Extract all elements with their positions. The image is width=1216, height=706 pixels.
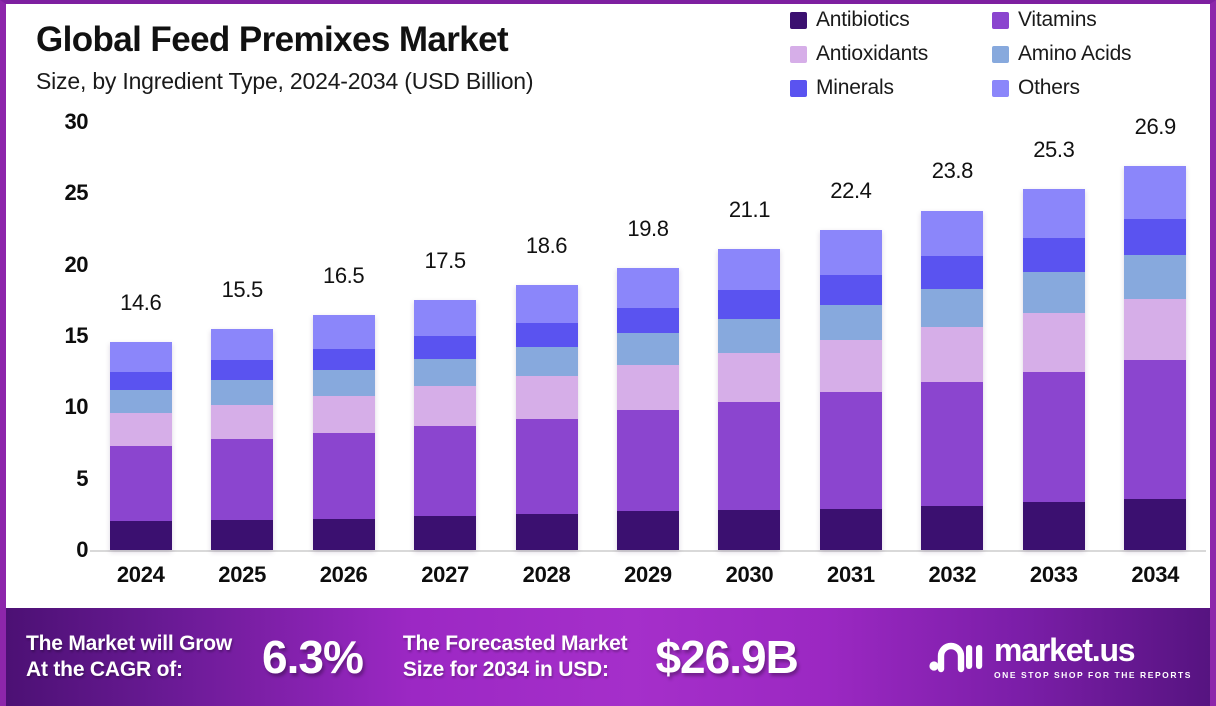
bar-stack[interactable]	[1124, 166, 1186, 550]
bar-segment-others[interactable]	[617, 268, 679, 308]
bar-total-label: 14.6	[90, 290, 191, 316]
bar-segment-antibiotics[interactable]	[718, 510, 780, 550]
brand-logo[interactable]: market.us ONE STOP SHOP FOR THE REPORTS	[928, 634, 1192, 680]
bar-segment-antioxidants[interactable]	[516, 376, 578, 419]
bar-segment-antibiotics[interactable]	[211, 520, 273, 550]
bar-stack[interactable]	[110, 342, 172, 550]
bar-stack[interactable]	[211, 329, 273, 550]
x-axis-tick-label: 2024	[90, 562, 191, 588]
bar-column-2029[interactable]: 19.8	[597, 122, 698, 550]
x-axis-tick-label: 2029	[597, 562, 698, 588]
bar-segment-vitamins[interactable]	[820, 392, 882, 509]
bar-segment-antibiotics[interactable]	[617, 511, 679, 550]
bar-column-2024[interactable]: 14.6	[90, 122, 191, 550]
legend-swatch-icon	[992, 12, 1009, 29]
market-us-logo-icon	[928, 637, 984, 678]
legend-item-antibiotics[interactable]: Antibiotics	[790, 8, 988, 32]
x-axis-tick-label: 2028	[496, 562, 597, 588]
bar-segment-others[interactable]	[516, 285, 578, 324]
bar-segment-amino-acids[interactable]	[820, 305, 882, 341]
legend-item-label: Antioxidants	[816, 42, 928, 66]
bar-total-label: 22.4	[800, 178, 901, 204]
bar-segment-antibiotics[interactable]	[313, 519, 375, 550]
legend-item-others[interactable]: Others	[992, 76, 1190, 100]
x-axis-tick-label: 2027	[394, 562, 495, 588]
infographic-root: Global Feed Premixes Market Size, by Ing…	[0, 0, 1216, 706]
x-axis-baseline	[90, 550, 1206, 552]
bar-total-label: 15.5	[191, 277, 292, 303]
y-axis-tick-label: 0	[76, 537, 88, 563]
bar-segment-others[interactable]	[718, 249, 780, 290]
bar-segment-amino-acids[interactable]	[921, 289, 983, 328]
legend-item-label: Vitamins	[1018, 8, 1097, 32]
bar-segment-antioxidants[interactable]	[313, 396, 375, 433]
bar-total-label: 17.5	[394, 248, 495, 274]
bar-column-2025[interactable]: 15.5	[191, 122, 292, 550]
bar-segment-vitamins[interactable]	[1124, 360, 1186, 498]
bar-segment-antibiotics[interactable]	[110, 521, 172, 550]
legend-swatch-icon	[790, 12, 807, 29]
bar-segment-vitamins[interactable]	[110, 446, 172, 522]
bar-segment-antioxidants[interactable]	[211, 405, 273, 439]
legend-item-label: Others	[1018, 76, 1080, 100]
forecast-caption: The Forecasted Market Size for 2034 in U…	[403, 631, 628, 682]
bar-segment-vitamins[interactable]	[921, 382, 983, 506]
bar-segment-minerals[interactable]	[414, 336, 476, 359]
cagr-caption: The Market will Grow At the CAGR of:	[26, 631, 232, 682]
bar-segment-antibiotics[interactable]	[414, 516, 476, 550]
bar-segment-amino-acids[interactable]	[1023, 272, 1085, 313]
bar-stack[interactable]	[820, 230, 882, 550]
cagr-value: 6.3%	[262, 630, 363, 684]
bar-stack[interactable]	[414, 300, 476, 550]
bar-column-2027[interactable]: 17.5	[394, 122, 495, 550]
bar-stack[interactable]	[1023, 189, 1085, 550]
legend-item-label: Minerals	[816, 76, 894, 100]
y-axis-tick-label: 5	[76, 466, 88, 492]
bar-total-label: 25.3	[1003, 137, 1104, 163]
legend-swatch-icon	[790, 80, 807, 97]
x-axis: 2024202520262027202820292030203120322033…	[90, 562, 1206, 588]
bar-stack[interactable]	[516, 285, 578, 550]
bar-total-label: 18.6	[496, 233, 597, 259]
brand-name: market.us	[994, 634, 1192, 666]
bar-segment-amino-acids[interactable]	[516, 347, 578, 376]
bar-stack[interactable]	[718, 249, 780, 550]
bar-segment-vitamins[interactable]	[1023, 372, 1085, 502]
bar-segment-vitamins[interactable]	[516, 419, 578, 515]
bar-segment-antioxidants[interactable]	[617, 365, 679, 411]
y-axis-tick-label: 20	[65, 252, 88, 278]
bar-segment-antioxidants[interactable]	[921, 327, 983, 381]
bar-segment-others[interactable]	[110, 342, 172, 372]
bar-segment-antibiotics[interactable]	[1124, 499, 1186, 550]
bar-column-2031[interactable]: 22.4	[800, 122, 901, 550]
bar-segment-others[interactable]	[313, 315, 375, 349]
x-axis-tick-label: 2030	[699, 562, 800, 588]
bar-segment-antibiotics[interactable]	[1023, 502, 1085, 551]
bar-stack[interactable]	[617, 268, 679, 550]
bar-segment-minerals[interactable]	[820, 275, 882, 305]
plot-area: 051015202530 14.615.516.517.518.619.821.…	[6, 122, 1216, 607]
bar-column-2026[interactable]: 16.5	[293, 122, 394, 550]
bar-segment-minerals[interactable]	[516, 323, 578, 347]
bar-segment-antioxidants[interactable]	[1023, 313, 1085, 371]
bar-segment-vitamins[interactable]	[313, 433, 375, 519]
bar-total-label: 21.1	[699, 197, 800, 223]
bar-segment-others[interactable]	[820, 230, 882, 274]
y-axis-tick-label: 10	[65, 394, 88, 420]
forecast-block: The Forecasted Market Size for 2034 in U…	[403, 630, 798, 684]
bar-total-label: 19.8	[597, 216, 698, 242]
bar-column-2033[interactable]: 25.3	[1003, 122, 1104, 550]
y-axis-tick-label: 30	[65, 109, 88, 135]
bar-column-2032[interactable]: 23.8	[902, 122, 1003, 550]
bar-segment-antioxidants[interactable]	[414, 386, 476, 426]
x-axis-tick-label: 2026	[293, 562, 394, 588]
bar-segment-amino-acids[interactable]	[414, 359, 476, 386]
bar-column-2030[interactable]: 21.1	[699, 122, 800, 550]
bar-total-label: 26.9	[1105, 114, 1206, 140]
bar-segment-amino-acids[interactable]	[313, 370, 375, 396]
bar-segment-others[interactable]	[1124, 166, 1186, 219]
bar-segment-amino-acids[interactable]	[718, 319, 780, 353]
brand-tagline: ONE STOP SHOP FOR THE REPORTS	[994, 670, 1192, 680]
forecast-value: $26.9B	[655, 630, 797, 684]
legend-item-antioxidants[interactable]: Antioxidants	[790, 42, 988, 66]
bar-segment-amino-acids[interactable]	[617, 333, 679, 364]
legend-swatch-icon	[790, 46, 807, 63]
bar-segment-vitamins[interactable]	[211, 439, 273, 520]
legend-item-minerals[interactable]: Minerals	[790, 76, 988, 100]
chart-legend: AntibioticsVitaminsAntioxidantsAmino Aci…	[790, 8, 1190, 100]
bar-segment-amino-acids[interactable]	[110, 390, 172, 413]
bar-segment-amino-acids[interactable]	[211, 380, 273, 404]
bar-segment-minerals[interactable]	[211, 360, 273, 380]
cagr-caption-line1: The Market will Grow	[26, 631, 232, 657]
brand-text: market.us ONE STOP SHOP FOR THE REPORTS	[994, 634, 1192, 680]
bar-segment-minerals[interactable]	[921, 256, 983, 289]
y-axis-tick-label: 15	[65, 323, 88, 349]
bar-segment-antibiotics[interactable]	[921, 506, 983, 550]
legend-item-label: Antibiotics	[816, 8, 910, 32]
x-axis-tick-label: 2033	[1003, 562, 1104, 588]
bar-column-2028[interactable]: 18.6	[496, 122, 597, 550]
y-axis: 051015202530	[32, 122, 88, 550]
bar-segment-amino-acids[interactable]	[1124, 255, 1186, 299]
bar-total-label: 16.5	[293, 263, 394, 289]
cagr-block: The Market will Grow At the CAGR of: 6.3…	[26, 630, 363, 684]
bar-segment-antioxidants[interactable]	[820, 340, 882, 391]
footer-bar: The Market will Grow At the CAGR of: 6.3…	[0, 608, 1216, 706]
bar-segment-minerals[interactable]	[718, 290, 780, 319]
cagr-caption-line2: At the CAGR of:	[26, 657, 232, 683]
bar-segment-minerals[interactable]	[1023, 238, 1085, 272]
bar-segment-vitamins[interactable]	[718, 402, 780, 510]
bar-segment-others[interactable]	[414, 300, 476, 336]
forecast-caption-line1: The Forecasted Market	[403, 631, 628, 657]
legend-item-amino-acids[interactable]: Amino Acids	[992, 42, 1190, 66]
bar-segment-vitamins[interactable]	[414, 426, 476, 516]
bar-segment-antioxidants[interactable]	[718, 353, 780, 402]
bar-segment-minerals[interactable]	[617, 308, 679, 334]
bar-segment-antioxidants[interactable]	[1124, 299, 1186, 360]
bar-stack[interactable]	[921, 211, 983, 551]
chart-subtitle: Size, by Ingredient Type, 2024-2034 (USD…	[36, 68, 796, 95]
legend-item-vitamins[interactable]: Vitamins	[992, 8, 1190, 32]
bar-segment-others[interactable]	[211, 329, 273, 360]
x-axis-tick-label: 2032	[902, 562, 1003, 588]
legend-swatch-icon	[992, 46, 1009, 63]
bar-column-2034[interactable]: 26.9	[1105, 122, 1206, 550]
y-axis-tick-label: 25	[65, 180, 88, 206]
bar-segment-others[interactable]	[921, 211, 983, 257]
bar-segment-antioxidants[interactable]	[110, 413, 172, 446]
bar-segment-minerals[interactable]	[110, 372, 172, 391]
x-axis-tick-label: 2031	[800, 562, 901, 588]
bar-stack[interactable]	[313, 315, 375, 550]
chart-header: Global Feed Premixes Market Size, by Ing…	[36, 20, 796, 95]
bar-group: 14.615.516.517.518.619.821.122.423.825.3…	[90, 122, 1206, 550]
bar-segment-others[interactable]	[1023, 189, 1085, 238]
bar-total-label: 23.8	[902, 158, 1003, 184]
bar-segment-antibiotics[interactable]	[516, 514, 578, 550]
bar-segment-vitamins[interactable]	[617, 410, 679, 511]
x-axis-tick-label: 2034	[1105, 562, 1206, 588]
page-title: Global Feed Premixes Market	[36, 20, 796, 59]
legend-item-label: Amino Acids	[1018, 42, 1131, 66]
bar-segment-minerals[interactable]	[1124, 219, 1186, 255]
bar-segment-minerals[interactable]	[313, 349, 375, 370]
x-axis-tick-label: 2025	[191, 562, 292, 588]
forecast-caption-line2: Size for 2034 in USD:	[403, 657, 628, 683]
legend-swatch-icon	[992, 80, 1009, 97]
bar-segment-antibiotics[interactable]	[820, 509, 882, 550]
